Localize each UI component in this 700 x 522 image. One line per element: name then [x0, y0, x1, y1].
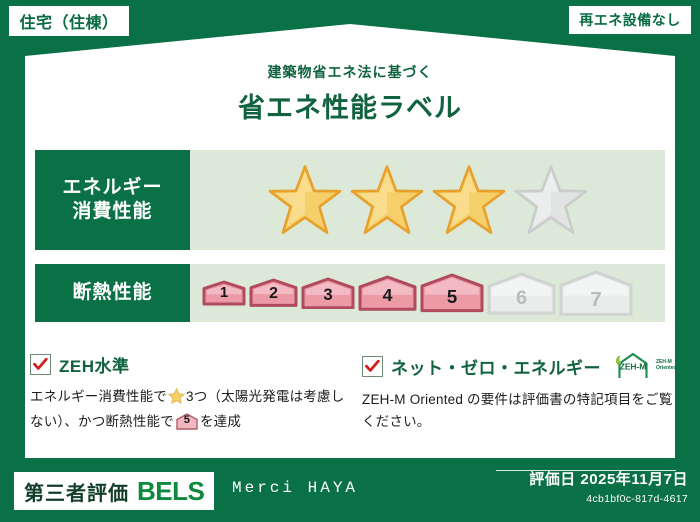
inline-grade-badge: 5: [176, 413, 198, 430]
bels-jp-label: 第三者評価: [24, 477, 129, 506]
insulation-grade-active: 2: [249, 278, 298, 307]
svg-text:ZEH-M: ZEH-M: [620, 362, 647, 372]
insulation-grade-active: 5: [420, 273, 484, 313]
star-filled-icon: [349, 162, 425, 238]
inline-star-icon: [168, 388, 185, 411]
insulation-grade-inactive: 6: [487, 272, 556, 315]
title-subtitle: 建築物省エネ法に基づく: [0, 62, 700, 82]
evaluation-info: 評価日 2025年11月7日 4cb1bf0c-817d-4617: [529, 468, 688, 505]
footer-divider: [496, 470, 676, 471]
footer: 第三者評価 BELS Merci HAYA 評価日 2025年11月7日 4cb…: [0, 460, 700, 522]
net-zero-energy-description: ZEH-M Oriented の要件は評価書の特記項目をご覧ください。: [362, 389, 674, 434]
zeh-m-caption-line2: Oriented: [656, 365, 677, 371]
evaluation-id: 4cb1bf0c-817d-4617: [529, 493, 688, 505]
zeh-standard-title: ZEH水準: [59, 352, 130, 377]
insulation-grade-value: 4: [383, 287, 393, 311]
insulation-grade-value: 5: [447, 288, 457, 313]
inline-grade-value: 5: [176, 413, 198, 430]
energy-performance-row: エネルギー 消費性能: [35, 150, 665, 250]
net-zero-energy-header: ネット・ゼロ・エネルギー ZEH-M ZEH-M Oriented: [362, 352, 674, 380]
net-zero-energy-title: ネット・ゼロ・エネルギー: [391, 354, 601, 379]
checkmark-icon: [362, 356, 383, 377]
zeh-standard-description: エネルギー消費性能で3つ（太陽光発電は考慮しない）、かつ断熱性能で5を達成: [30, 386, 350, 434]
zeh-m-logo-caption: ZEH-M Oriented: [656, 360, 677, 372]
insulation-grade-active: 4: [358, 275, 417, 311]
energy-label-line2: 消費性能: [72, 200, 152, 224]
checkmark-icon: [30, 354, 51, 375]
page-title: 建築物省エネ法に基づく 省エネ性能ラベル: [0, 62, 700, 125]
building-type-tag-label: 住宅（住棟）: [19, 9, 118, 33]
zeh-m-logo: ZEH-M ZEH-M Oriented: [613, 352, 677, 380]
evaluation-date: 評価日 2025年11月7日: [529, 468, 688, 489]
star-empty-icon: [513, 162, 589, 238]
bels-badge: 第三者評価 BELS: [14, 472, 214, 510]
title-main: 省エネ性能ラベル: [0, 86, 700, 125]
bels-en-label: BELS: [137, 476, 204, 507]
renewable-energy-tag: 再エネ設備なし: [568, 5, 692, 35]
insulation-grade-value: 6: [516, 289, 527, 315]
insulation-performance-row: 断熱性能 1234567: [35, 264, 665, 322]
insulation-grade-value: 7: [590, 290, 601, 316]
insulation-grade-track: 1234567: [190, 264, 665, 322]
star-filled-icon: [431, 162, 507, 238]
insulation-grade-active: 3: [301, 277, 355, 310]
star-filled-icon: [267, 162, 343, 238]
energy-label-line1: エネルギー: [62, 176, 162, 200]
owner-name: Merci HAYA: [232, 479, 358, 497]
zeh-text-end: を達成: [200, 414, 241, 429]
insulation-grade-value: 3: [323, 287, 332, 310]
insulation-grade-value: 1: [220, 285, 228, 306]
insulation-label-line1: 断熱性能: [72, 281, 152, 305]
insulation-grade-inactive: 7: [559, 270, 633, 316]
energy-performance-row-label: エネルギー 消費性能: [35, 150, 190, 250]
renewable-energy-tag-label: 再エネ設備なし: [579, 10, 681, 30]
net-zero-energy-block: ネット・ゼロ・エネルギー ZEH-M ZEH-M Oriented ZEH-M …: [362, 352, 674, 434]
star-rating-track: [190, 150, 665, 250]
zeh-text-before-star: エネルギー消費性能で: [30, 389, 167, 404]
zeh-standard-header: ZEH水準: [30, 352, 350, 377]
insulation-performance-row-label: 断熱性能: [35, 264, 190, 322]
building-type-tag: 住宅（住棟）: [8, 5, 130, 37]
zeh-standard-block: ZEH水準 エネルギー消費性能で3つ（太陽光発電は考慮しない）、かつ断熱性能で5…: [30, 352, 350, 434]
insulation-grade-active: 1: [202, 280, 246, 306]
energy-performance-label: 住宅（住棟） 再エネ設備なし 建築物省エネ法に基づく 省エネ性能ラベル エネルギ…: [0, 0, 700, 522]
insulation-grade-value: 2: [269, 286, 278, 308]
